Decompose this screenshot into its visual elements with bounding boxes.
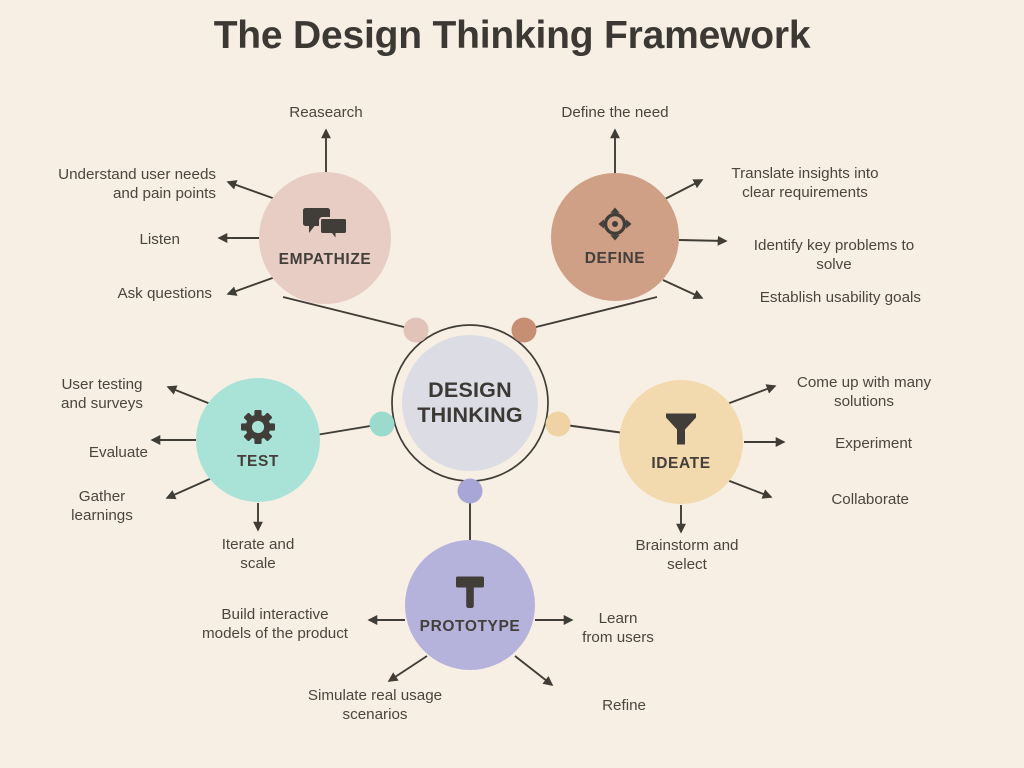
leaf-define-3: Establish usability goals [713,288,921,307]
phase-node-test[interactable]: TEST [196,378,320,502]
leaf-define-2: Identify key problems to solve [736,236,932,275]
leaf-prototype-2: Simulate real usage scenarios [283,686,467,725]
leaf-ideate-2: Collaborate [789,490,909,509]
phase-node-prototype[interactable]: PROTOTYPE [405,540,535,670]
center-label-line2: THINKING [417,403,523,427]
center-node-label: DESIGN THINKING [417,378,523,429]
phase-label-empathize: EMPATHIZE [279,251,372,269]
diagram-canvas: The Design Thinking Framework [0,0,1024,768]
leaf-ideate-3: Brainstorm and select [605,536,769,575]
leaf-prototype-1: Learn from users [570,609,666,648]
ring-dot-prototype [458,479,483,504]
leaf-define-1: Translate insights into clear requiremen… [709,164,901,203]
phase-node-empathize[interactable]: EMPATHIZE [259,172,391,304]
center-label-line1: DESIGN [428,378,512,402]
phase-label-test: TEST [237,453,279,471]
crosshair-target-icon [598,207,632,241]
phase-label-ideate: IDEATE [651,455,710,473]
leaf-empathize-3: Ask questions [46,284,212,303]
funnel-icon [665,412,697,446]
leaf-test-0: User testing and surveys [37,375,167,414]
ring-dot-define [512,318,537,343]
gear-icon [241,410,275,444]
leaf-prototype-0: Build interactive models of the product [180,605,370,644]
leaf-ideate-0: Come up with many solutions [782,373,946,412]
hammer-icon [453,575,487,609]
ring-dot-empathize [404,318,429,343]
leaf-test-1: Evaluate [62,443,148,462]
phase-label-define: DEFINE [585,250,645,268]
leaf-test-3: Iterate and scale [193,535,323,574]
ring-dot-test [370,412,395,437]
phase-node-ideate[interactable]: IDEATE [619,380,743,504]
leaf-ideate-1: Experiment [792,434,912,453]
leaf-prototype-3: Refine [546,696,646,715]
speech-bubbles-icon [302,208,348,242]
center-node-design-thinking[interactable]: DESIGN THINKING [402,335,538,471]
phase-node-define[interactable]: DEFINE [551,173,679,301]
leaf-define-0: Define the need [533,103,697,122]
leaf-empathize-0: Reasearch [256,103,396,122]
leaf-empathize-2: Listen [56,230,180,249]
leaf-test-2: Gather learnings [37,487,167,526]
leaf-empathize-1: Understand user needs and pain points [16,165,216,204]
ring-dot-ideate [546,412,571,437]
phase-label-prototype: PROTOTYPE [420,618,521,636]
